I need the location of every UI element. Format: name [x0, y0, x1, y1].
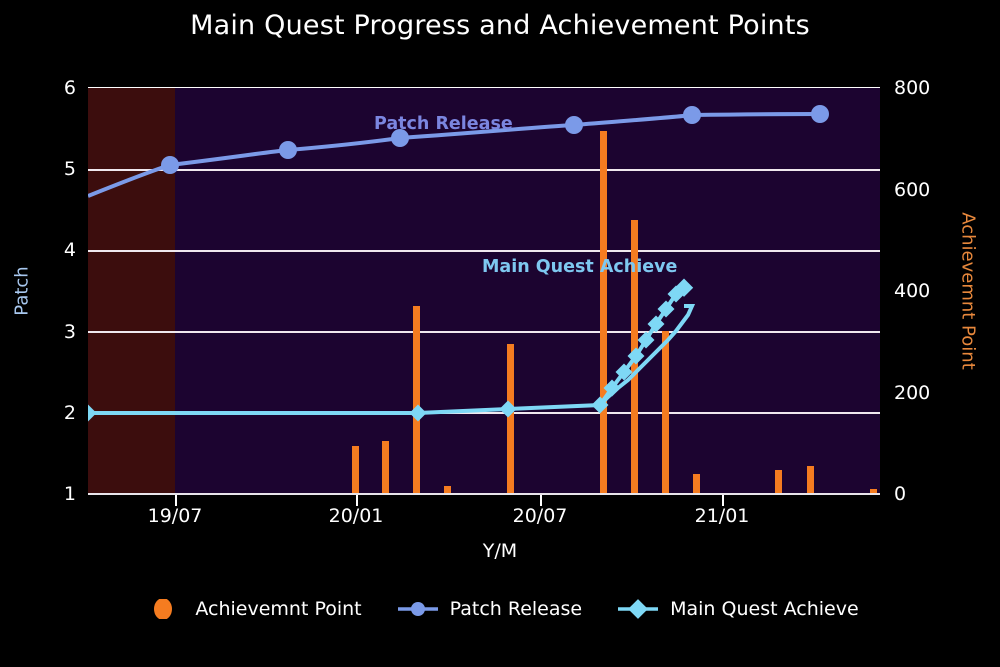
y-tick-left: 3: [64, 321, 76, 343]
y-tick-left: 2: [64, 402, 76, 424]
y-tick-left: 1: [64, 483, 76, 505]
line-series-overlay: [88, 88, 880, 494]
annotation-main-quest-achieve: Main Quest Achieve: [482, 257, 677, 277]
legend-item-patch-release[interactable]: Patch Release: [396, 598, 582, 620]
y-tick-right: 400: [894, 280, 930, 302]
x-tick-label: 20/01: [329, 505, 384, 527]
diamond-line-icon: [616, 599, 660, 619]
y-tick-left: 6: [64, 77, 76, 99]
chart-legend: Achievemnt Point Patch Release Main Ques…: [0, 598, 1000, 620]
plot-frame-bottom: [88, 493, 880, 495]
legend-item-main-quest-achieve[interactable]: Main Quest Achieve: [616, 598, 859, 620]
y-tick-left: 5: [64, 158, 76, 180]
x-tick-label: 21/01: [695, 505, 750, 527]
quest-line: [88, 306, 692, 413]
legend-label: Achievemnt Point: [195, 598, 361, 620]
legend-label: Main Quest Achieve: [670, 598, 859, 620]
circle-line-icon: [396, 599, 440, 619]
legend-item-achievement-point[interactable]: Achievemnt Point: [141, 598, 361, 620]
y-tick-right: 0: [894, 483, 906, 505]
chart-title: Main Quest Progress and Achievement Poin…: [0, 10, 1000, 41]
x-tick-label: 20/07: [513, 505, 568, 527]
y-tick-left: 4: [64, 239, 76, 261]
y-tick-right: 200: [894, 382, 930, 404]
ellipse-icon: [141, 599, 185, 619]
y-tick-right: 600: [894, 179, 930, 201]
chart-root: Main Quest Progress and Achievement Poin…: [0, 0, 1000, 667]
plot-area: Patch Release Main Quest Achieve: [88, 88, 880, 494]
quest-markers: [88, 279, 693, 422]
annotation-patch-release: Patch Release: [374, 114, 513, 134]
legend-label: Patch Release: [450, 598, 582, 620]
y-axis-right-label: Achievemnt Point: [958, 212, 979, 370]
y-axis-left-label: Patch: [12, 266, 33, 315]
y-tick-right: 800: [894, 77, 930, 99]
x-tick-label: 19/07: [148, 505, 203, 527]
x-axis-label: Y/M: [0, 540, 1000, 562]
